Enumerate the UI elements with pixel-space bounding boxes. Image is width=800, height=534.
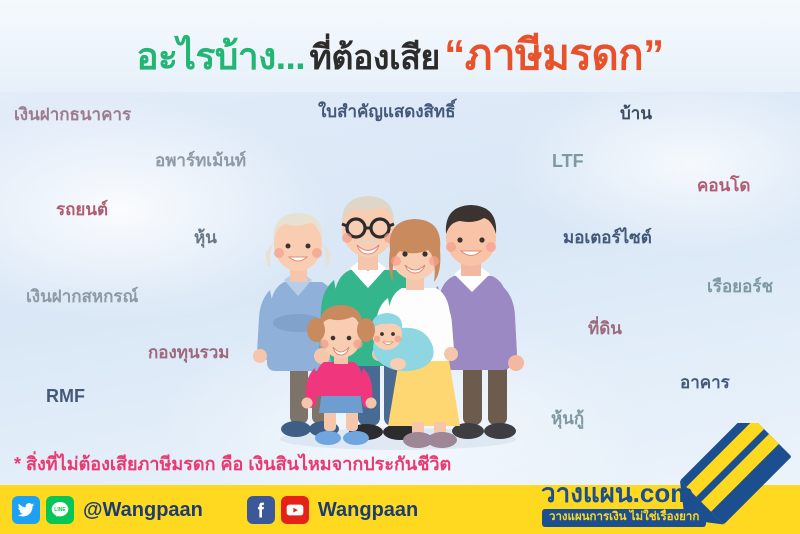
social-group-left: LINE @Wangpaan [12,496,203,524]
asset-label: คอนโด [697,177,750,194]
asset-label: LTF [552,152,584,170]
family-illustration [248,158,544,450]
twitter-icon[interactable] [12,496,40,524]
asset-label: ใบสำคัญแสดงสิทธิ์ [318,103,456,120]
header-band: อะไรบ้าง... ที่ต้องเสีย “ภาษีมรดก” [0,0,800,92]
asset-label: RMF [46,387,85,405]
asset-label: อพาร์ทเม้นท์ [155,152,246,169]
asset-label: อาคาร [680,374,730,391]
youtube-icon[interactable] [281,496,309,524]
page-title: อะไรบ้าง... ที่ต้องเสีย “ภาษีมรดก” [0,22,800,88]
asset-label: เงินฝากธนาคาร [14,106,131,123]
brand-name: วางแผน.com [541,480,693,506]
title-segment-orange: “ภาษีมรดก” [444,31,663,78]
title-segment-green: อะไรบ้าง... [136,36,305,77]
title-segment-dark: ที่ต้องเสีย [310,39,440,77]
asset-label: มอเตอร์ไซต์ [563,229,652,246]
asset-label: กองทุนรวม [148,344,230,361]
asset-label: ที่ดิน [588,320,622,337]
asset-label: หุ้น [194,229,217,246]
svg-text:LINE: LINE [54,507,66,513]
disclaimer-note: * สิ่งที่ไม่ต้องเสียภาษีมรดก คือ เงินสิน… [14,455,451,473]
line-icon[interactable]: LINE [46,496,74,524]
brand-tagline: วางแผนการเงิน ไม่ใช่เรื่องยาก [542,509,706,528]
asset-label: บ้าน [620,105,652,122]
social-group-right: Wangpaan [247,496,418,524]
facebook-icon[interactable] [247,496,275,524]
asset-label: เรือยอร์ช [707,278,773,295]
brand-logo[interactable]: วางแผน.com วางแผนการเงิน ไม่ใช่เรื่องยาก [514,422,794,532]
handle-left: @Wangpaan [83,500,203,520]
infographic-poster: อะไรบ้าง... ที่ต้องเสีย “ภาษีมรดก” [0,0,800,534]
asset-label: รถยนต์ [56,201,108,218]
asset-label: เงินฝากสหกรณ์ [26,288,138,305]
handle-right: Wangpaan [318,500,418,520]
